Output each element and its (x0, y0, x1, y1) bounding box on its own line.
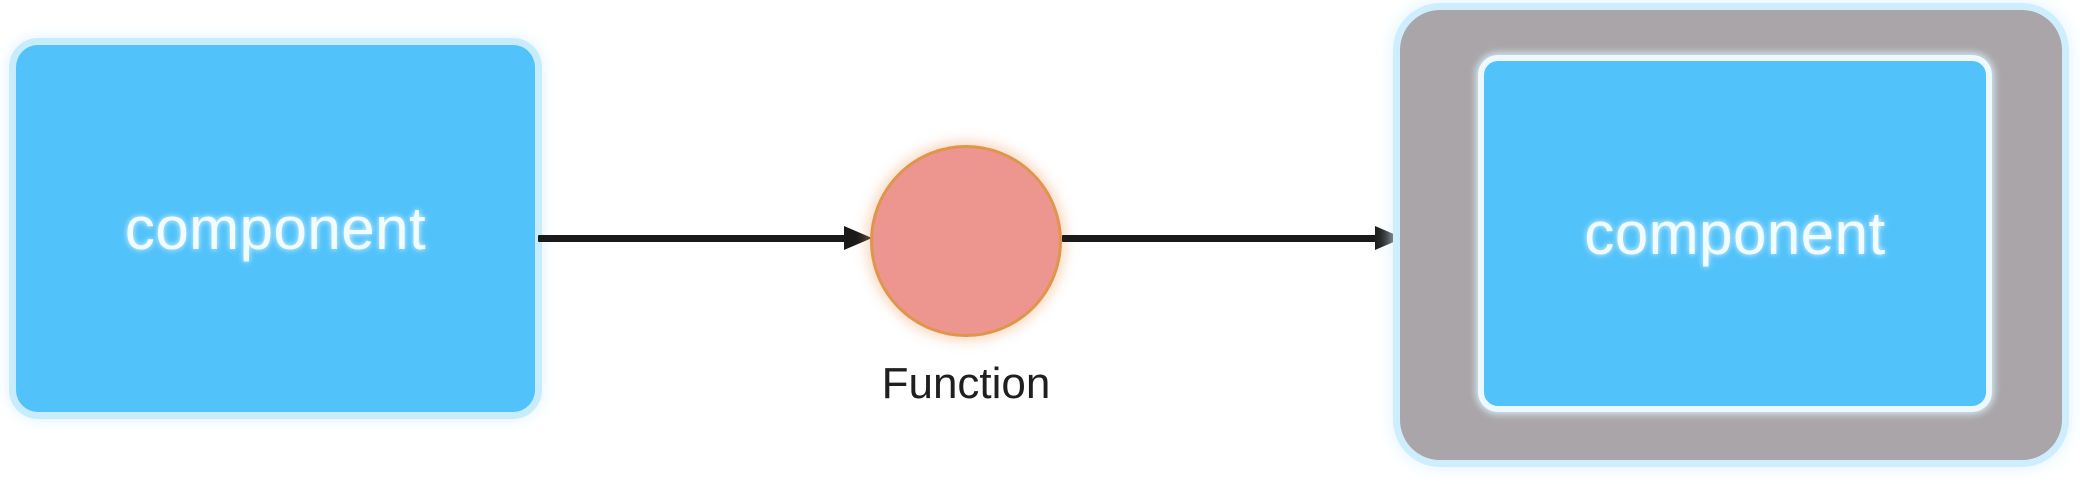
arrow-head-icon (1375, 226, 1403, 250)
node-target-component[interactable]: component (1478, 55, 1992, 412)
node-source-component-label: component (125, 199, 426, 259)
arrow-head-icon (844, 226, 872, 250)
arrow-shaft (538, 235, 846, 242)
edge-component-to-function (538, 223, 872, 253)
node-target-container[interactable]: component (1400, 10, 2062, 460)
node-source-component[interactable]: component (16, 45, 535, 412)
node-function[interactable] (870, 145, 1062, 337)
node-target-component-label: component (1584, 204, 1885, 264)
node-function-label: Function (866, 362, 1066, 406)
arrow-shaft (1062, 235, 1377, 242)
diagram-canvas: component Function component (0, 0, 2080, 484)
edge-function-to-container (1062, 223, 1403, 253)
